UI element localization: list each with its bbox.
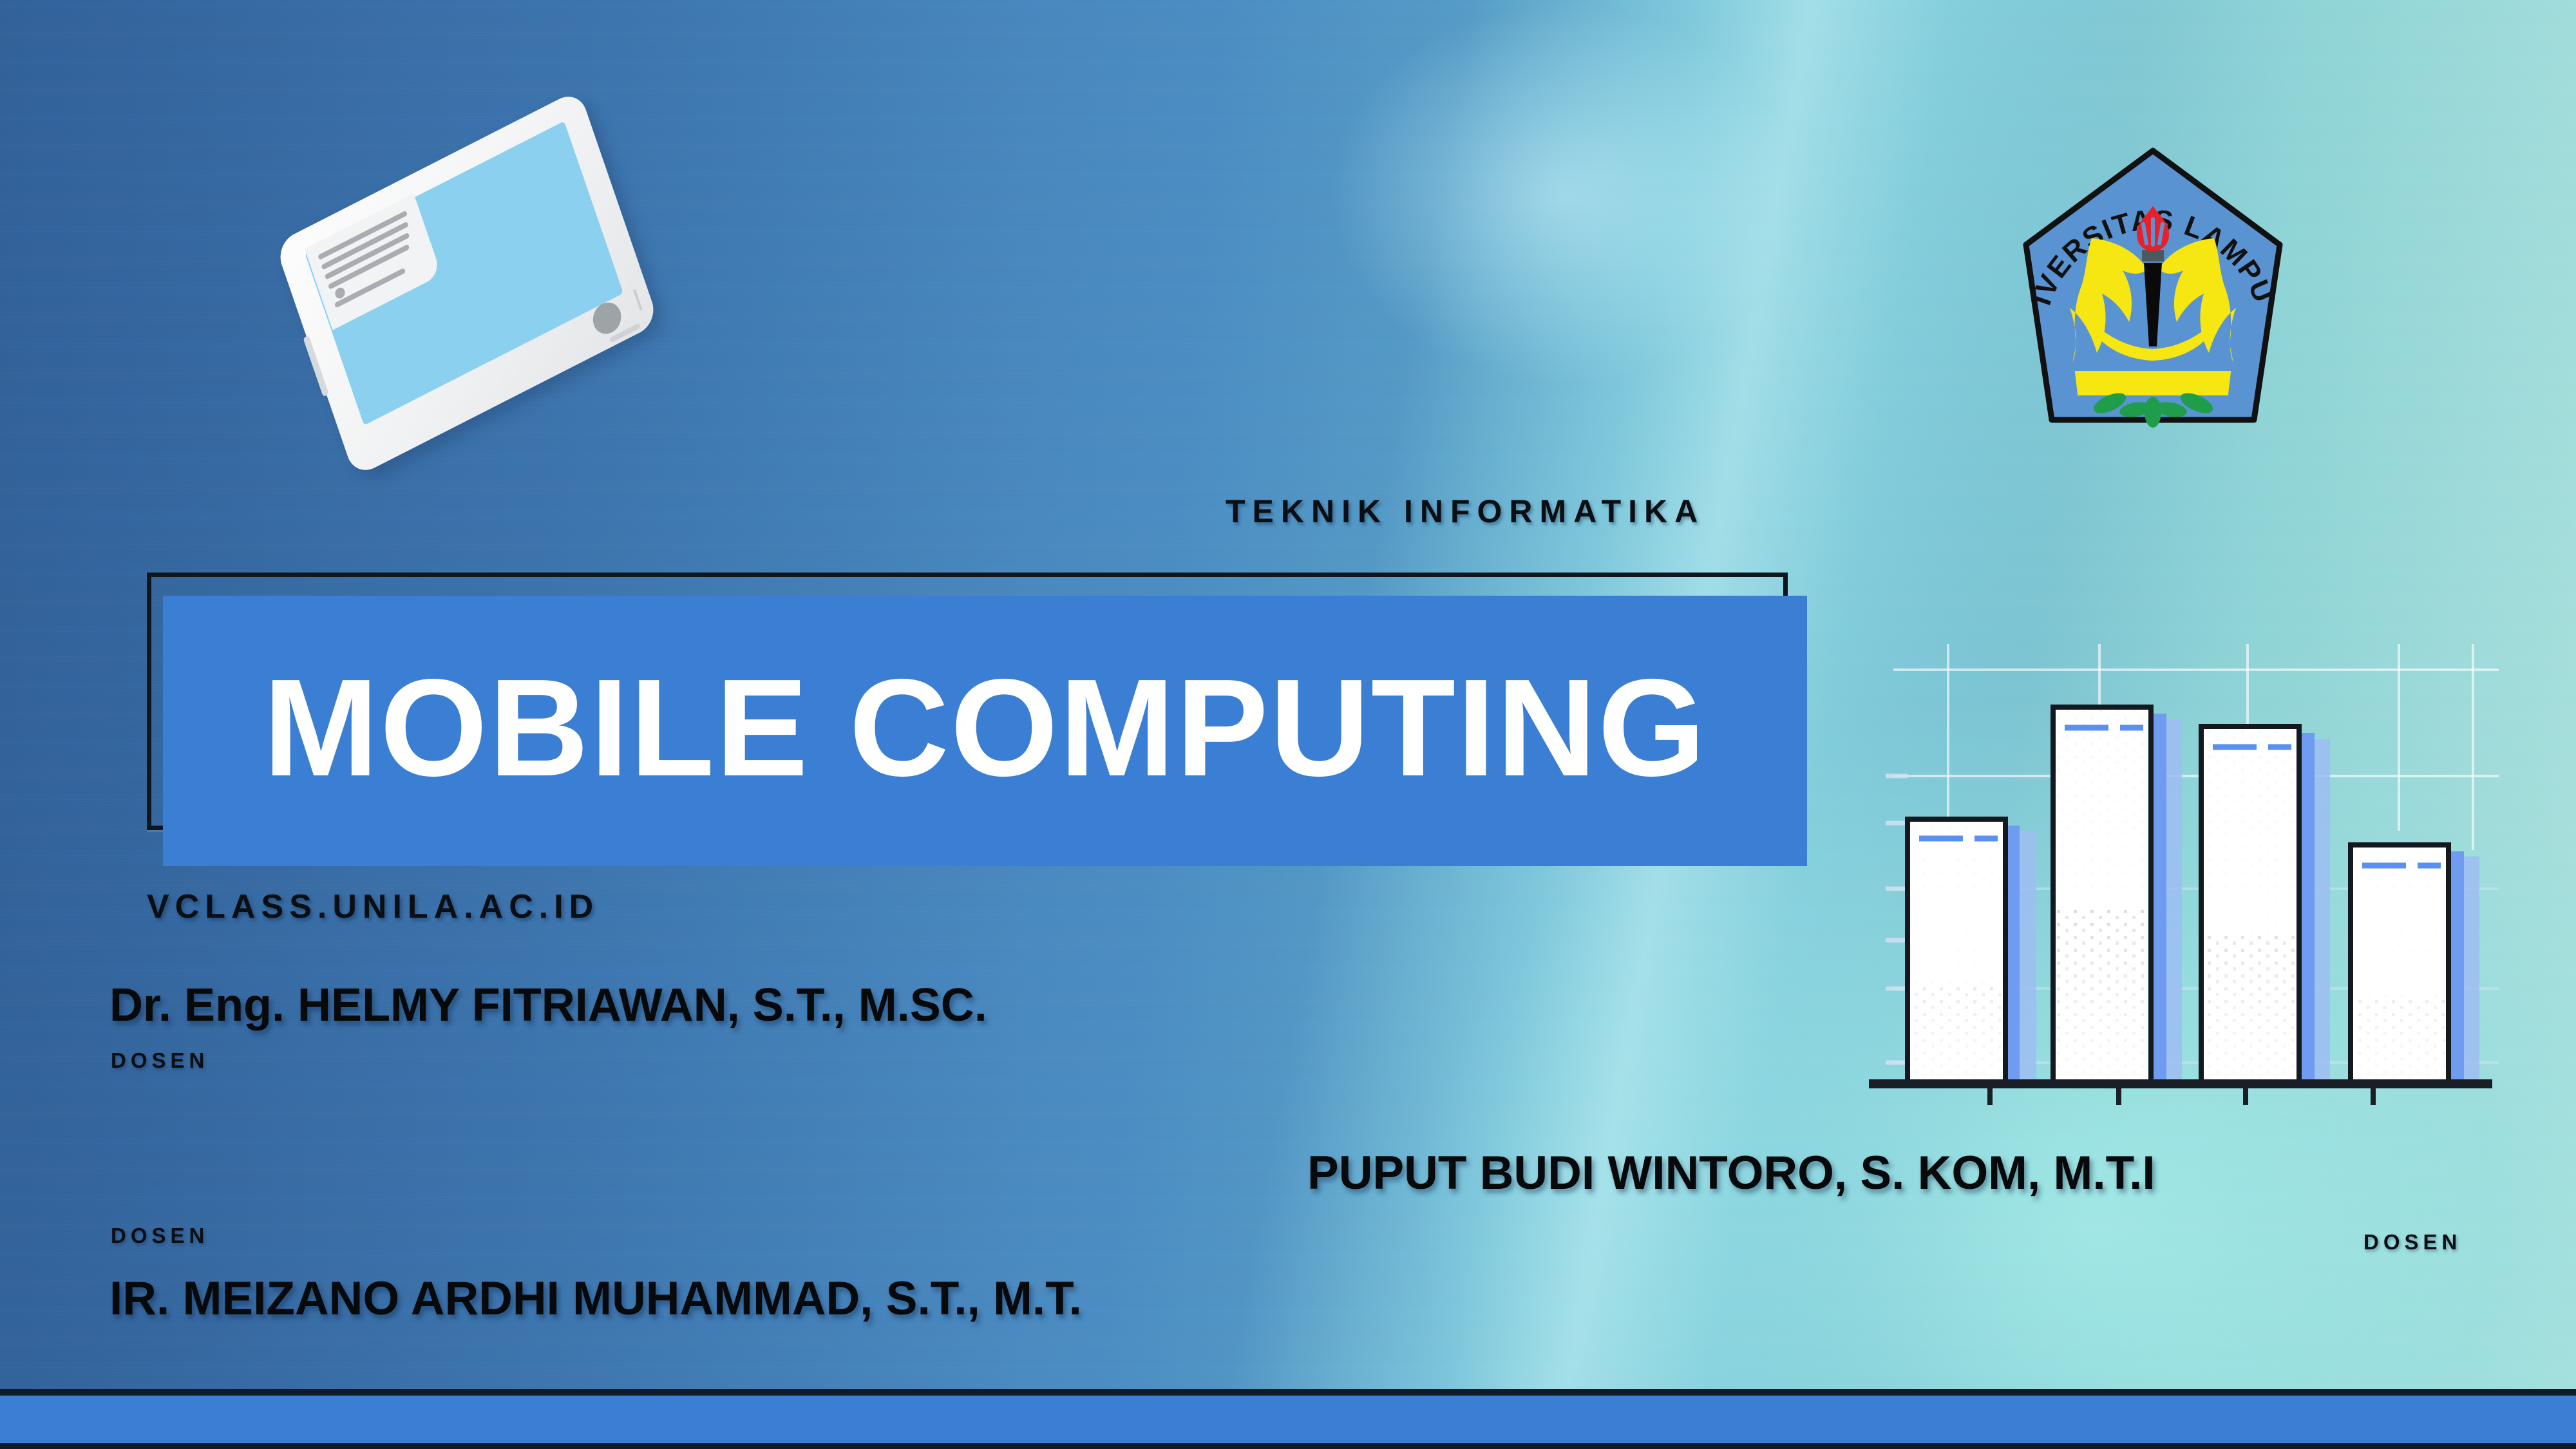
universitas-lampung-logo: UNIVERSITAS LAMPUNG (2014, 143, 2291, 442)
chart-bar-1 (1908, 819, 2036, 1082)
page-title: MOBILE COMPUTING (263, 658, 1707, 797)
lecturer-role-2: DOSEN (2363, 1230, 2461, 1255)
slide-canvas: UNIVERSITAS LAMPUNG (0, 0, 2576, 1449)
chart-bar-2 (2053, 707, 2182, 1082)
lecturer-role-1: DOSEN (111, 1048, 209, 1073)
logo-base-band (2076, 372, 2230, 394)
department-label: TEKNIK INFORMATIKA (1226, 493, 1705, 530)
chart-x-axis (1869, 1079, 2492, 1088)
phone-icon (274, 89, 659, 477)
logo-torch-collar (2142, 250, 2164, 261)
lecturer-name-2: PUPUT BUDI WINTORO, S. KOM, M.T.I (1307, 1146, 2155, 1200)
chart-bar-3 (2201, 726, 2330, 1082)
lecturer-name-3: IR. MEIZANO ARDHI MUHAMMAD, S.T., M.T. (109, 1272, 1082, 1325)
lecturer-role-3: DOSEN (111, 1224, 209, 1248)
mobile-phone-illustration (213, 122, 779, 509)
footer-bar (0, 1389, 2576, 1449)
lecturer-name-1: Dr. Eng. HELMY FITRIAWAN, S.T., M.SC. (109, 979, 987, 1032)
chart-y-ticks (1886, 776, 1908, 1063)
bar-chart (1855, 638, 2505, 1108)
course-title-box: MOBILE COMPUTING (163, 596, 1807, 866)
chart-bar-4 (2351, 845, 2479, 1082)
website-label: VCLASS.UNILA.AC.ID (147, 887, 599, 926)
